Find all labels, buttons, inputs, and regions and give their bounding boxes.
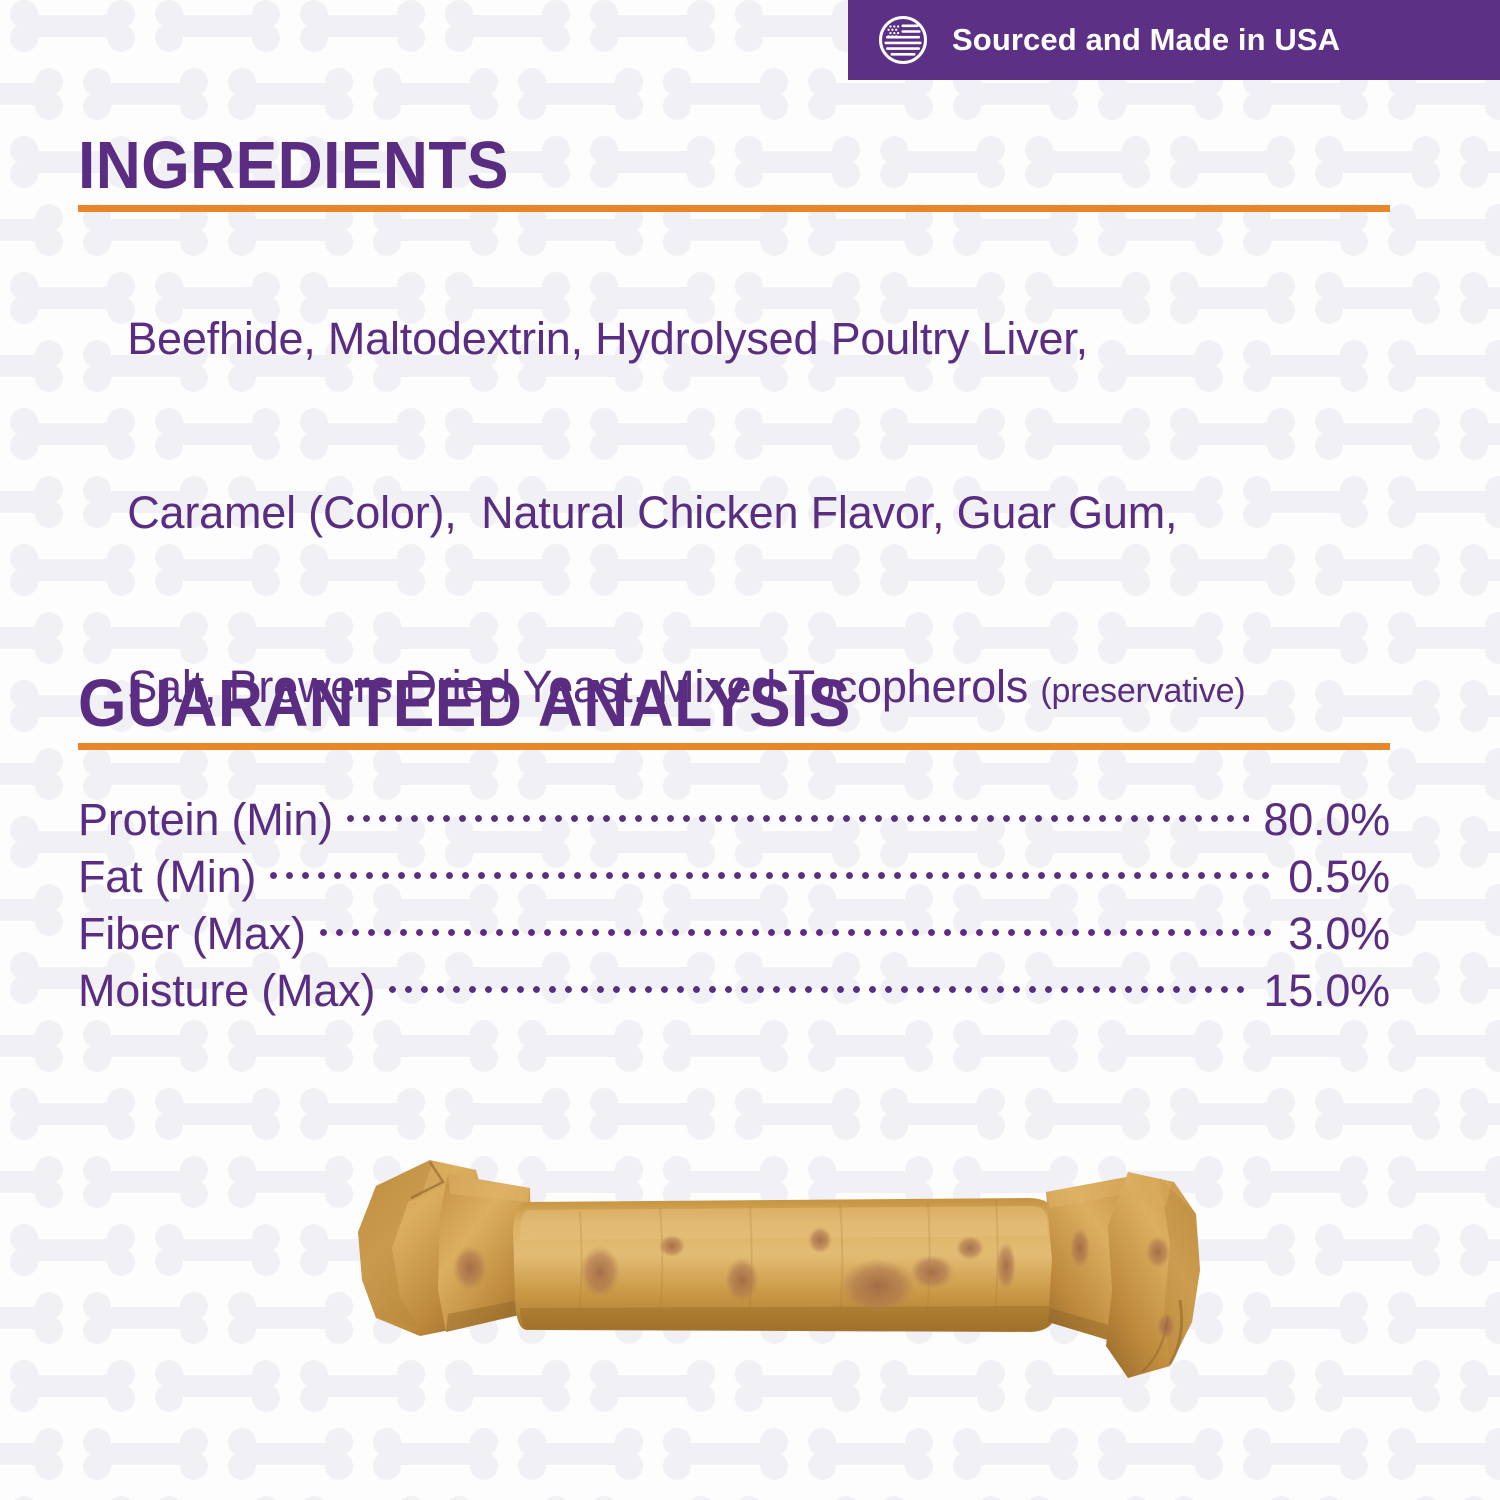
rawhide-chew-product-image <box>280 1140 1210 1400</box>
nutrient-label: Fat (Min) <box>78 849 256 904</box>
nutrient-value: 80.0% <box>1263 792 1390 847</box>
table-row: Fiber (Max) 3.0% <box>78 904 1390 961</box>
table-row: Moisture (Max) 15.0% <box>78 961 1390 1018</box>
guaranteed-analysis-divider-rule <box>78 743 1390 750</box>
usa-badge-label: Sourced and Made in USA <box>952 22 1340 58</box>
dot-leader <box>389 961 1249 1006</box>
nutrient-value: 15.0% <box>1263 963 1390 1018</box>
nutrient-label: Fiber (Max) <box>78 906 306 961</box>
table-row: Protein (Min) 80.0% <box>78 790 1390 847</box>
guaranteed-analysis-heading: GUARANTEED ANALYSIS <box>78 665 851 742</box>
sourced-made-in-usa-badge: Sourced and Made in USA <box>848 0 1500 80</box>
guaranteed-analysis-table: Protein (Min) 80.0% Fat (Min) 0.5% Fiber… <box>78 790 1390 1018</box>
preservative-note: (preservative) <box>1040 672 1245 710</box>
ingredients-line-2: Caramel (Color), Natural Chicken Flavor,… <box>127 487 1177 538</box>
nutrient-label: Protein (Min) <box>78 792 333 847</box>
right-knot <box>1106 1172 1200 1378</box>
nutrient-label: Moisture (Max) <box>78 963 375 1018</box>
nutrient-value: 0.5% <box>1288 849 1390 904</box>
dot-leader <box>320 904 1274 949</box>
table-row: Fat (Min) 0.5% <box>78 847 1390 904</box>
ingredients-divider-rule <box>78 205 1390 212</box>
usa-flag-circle-icon <box>878 15 928 65</box>
ingredients-heading: INGREDIENTS <box>78 127 509 204</box>
dot-leader <box>270 847 1274 892</box>
ingredients-line-1: Beefhide, Maltodextrin, Hydrolysed Poult… <box>127 313 1088 364</box>
nutrient-value: 3.0% <box>1288 906 1390 961</box>
chew-roll-body <box>513 1198 1056 1332</box>
dot-leader <box>347 790 1249 835</box>
